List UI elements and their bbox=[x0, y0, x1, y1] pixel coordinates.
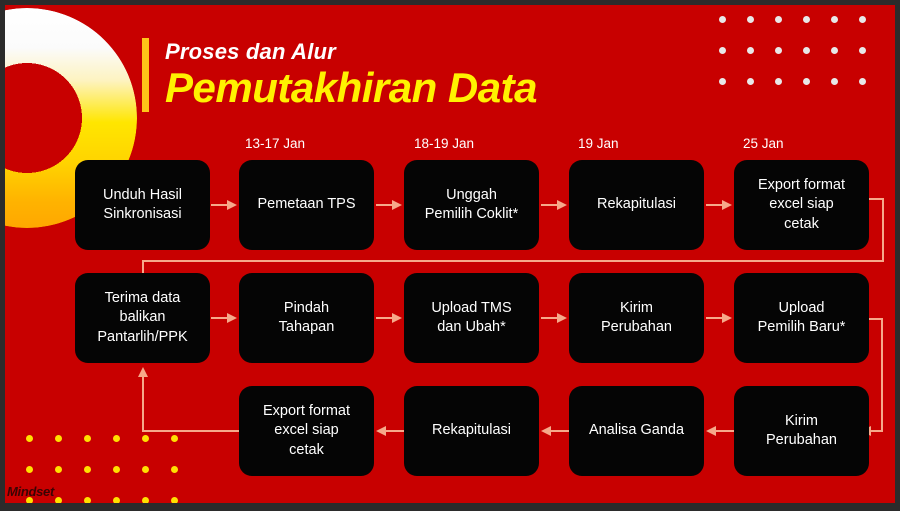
slide-stage: Proses dan Alur Pemutakhiran Data 13-17 … bbox=[5, 5, 895, 503]
node-export-format-row3[interactable]: Export formatexcel siapcetak bbox=[239, 386, 374, 476]
arrowhead-row1-4 bbox=[722, 200, 732, 210]
node-unggah-pemilih-coklit[interactable]: UnggahPemilih Coklit* bbox=[404, 160, 539, 250]
node-pindah-tahapan[interactable]: PindahTahapan bbox=[239, 273, 374, 363]
dot bbox=[775, 16, 782, 23]
dot bbox=[84, 466, 91, 473]
arrowhead-row3-1 bbox=[706, 426, 716, 436]
connector-row2-to-row3-left bbox=[871, 430, 883, 432]
dot bbox=[831, 47, 838, 54]
dot bbox=[113, 497, 120, 503]
dot bbox=[113, 466, 120, 473]
slide-header: Proses dan Alur Pemutakhiran Data bbox=[142, 38, 537, 112]
dot bbox=[831, 16, 838, 23]
dot bbox=[719, 47, 726, 54]
node-unduh-hasil-sinkronisasi[interactable]: Unduh HasilSinkronisasi bbox=[75, 160, 210, 250]
node-rekapitulasi-row1[interactable]: Rekapitulasi bbox=[569, 160, 704, 250]
arrowhead-into-terima-data-bottom bbox=[138, 367, 148, 377]
dot bbox=[719, 78, 726, 85]
dot bbox=[803, 16, 810, 23]
arrow-row3-2 bbox=[551, 430, 569, 432]
date-label-pemetaan-tps: 13-17 Jan bbox=[245, 136, 305, 151]
node-rekapitulasi-row3[interactable]: Rekapitulasi bbox=[404, 386, 539, 476]
dot bbox=[171, 435, 178, 442]
dot bbox=[55, 435, 62, 442]
watermark-logo: Mindset bbox=[7, 484, 54, 499]
dot bbox=[859, 78, 866, 85]
dot bbox=[775, 47, 782, 54]
dot bbox=[775, 78, 782, 85]
dot bbox=[747, 16, 754, 23]
node-pemetaan-tps[interactable]: Pemetaan TPS bbox=[239, 160, 374, 250]
dot bbox=[803, 78, 810, 85]
arrowhead-row1-1 bbox=[227, 200, 237, 210]
arrow-row3-3 bbox=[386, 430, 404, 432]
date-label-export-format: 25 Jan bbox=[743, 136, 784, 151]
dot bbox=[142, 435, 149, 442]
connector-row1-to-row2-down bbox=[882, 198, 884, 262]
arrowhead-row3-2 bbox=[541, 426, 551, 436]
dot bbox=[803, 47, 810, 54]
slide-canvas: Proses dan Alur Pemutakhiran Data 13-17 … bbox=[0, 0, 900, 511]
arrow-row3-1 bbox=[716, 430, 734, 432]
slide-kicker: Proses dan Alur bbox=[165, 40, 537, 63]
date-label-rekapitulasi: 19 Jan bbox=[578, 136, 619, 151]
dot bbox=[171, 497, 178, 503]
node-export-format-row1[interactable]: Export formatexcel siapcetak bbox=[734, 160, 869, 250]
dot bbox=[747, 78, 754, 85]
arrowhead-row2-3 bbox=[557, 313, 567, 323]
accent-bar bbox=[142, 38, 149, 112]
dot bbox=[55, 497, 62, 503]
arrowhead-row2-4 bbox=[722, 313, 732, 323]
connector-row3-to-row2-up bbox=[142, 377, 144, 431]
arrowhead-row2-2 bbox=[392, 313, 402, 323]
node-analisa-ganda[interactable]: Analisa Ganda bbox=[569, 386, 704, 476]
title-group: Proses dan Alur Pemutakhiran Data bbox=[165, 38, 537, 112]
node-kirim-perubahan-row2[interactable]: KirimPerubahan bbox=[569, 273, 704, 363]
arrowhead-row2-1 bbox=[227, 313, 237, 323]
dot bbox=[859, 16, 866, 23]
node-upload-tms-dan-ubah[interactable]: Upload TMSdan Ubah* bbox=[404, 273, 539, 363]
arrowhead-row1-2 bbox=[392, 200, 402, 210]
dot bbox=[831, 78, 838, 85]
slide-title: Pemutakhiran Data bbox=[165, 66, 537, 110]
node-upload-pemilih-baru[interactable]: UploadPemilih Baru* bbox=[734, 273, 869, 363]
dot bbox=[142, 497, 149, 503]
dot bbox=[26, 466, 33, 473]
dot bbox=[55, 466, 62, 473]
dot bbox=[113, 435, 120, 442]
connector-row3-to-row2-left bbox=[142, 430, 239, 432]
dot-grid-top-right bbox=[719, 16, 887, 109]
dot bbox=[84, 497, 91, 503]
dot bbox=[859, 47, 866, 54]
node-kirim-perubahan-row3[interactable]: KirimPerubahan bbox=[734, 386, 869, 476]
node-terima-data-balikan[interactable]: Terima databalikanPantarlih/PPK bbox=[75, 273, 210, 363]
arrowhead-row3-3 bbox=[376, 426, 386, 436]
dot bbox=[84, 435, 91, 442]
dot bbox=[171, 466, 178, 473]
dot bbox=[747, 47, 754, 54]
date-label-unggah-pemilih-coklit: 18-19 Jan bbox=[414, 136, 474, 151]
dot bbox=[142, 466, 149, 473]
connector-row1-to-row2-back bbox=[142, 260, 884, 262]
dot bbox=[26, 435, 33, 442]
dot bbox=[719, 16, 726, 23]
arrowhead-row1-3 bbox=[557, 200, 567, 210]
connector-row2-to-row3-down bbox=[881, 318, 883, 431]
